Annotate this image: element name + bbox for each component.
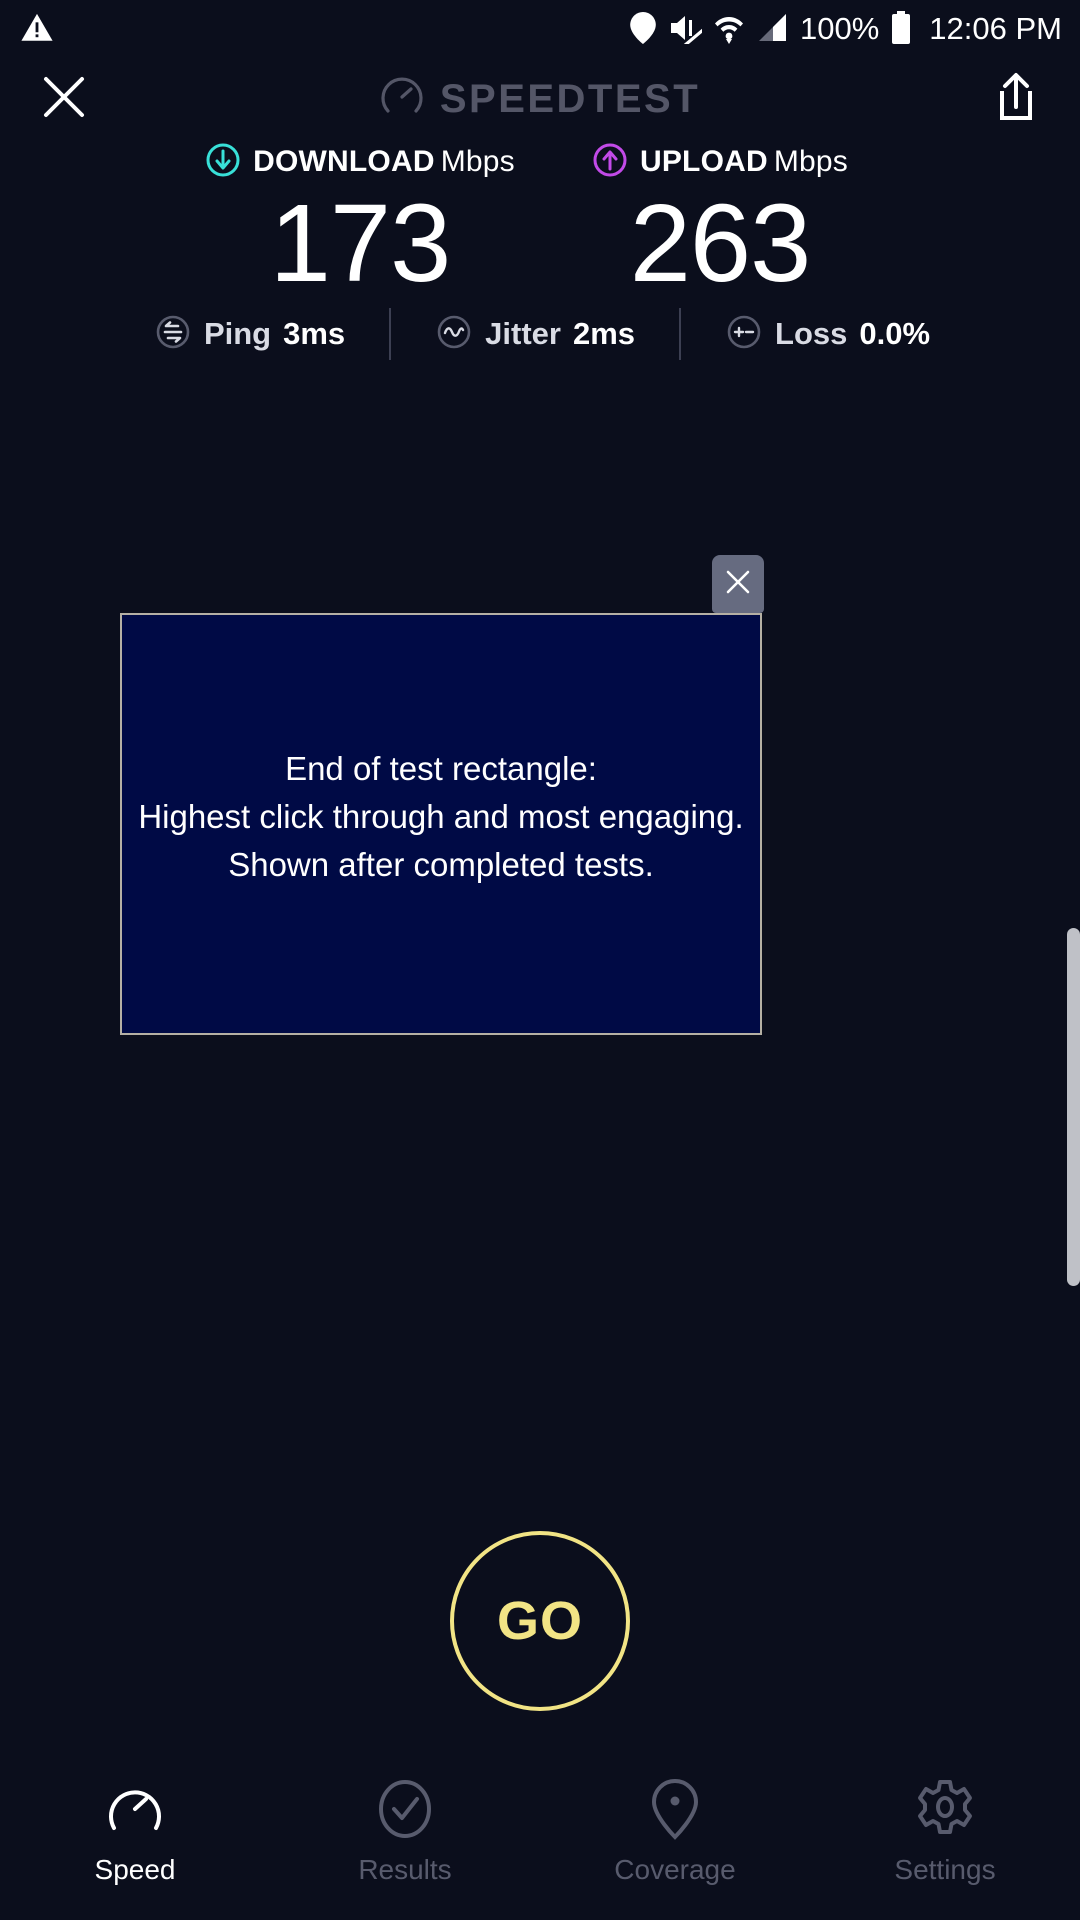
share-icon	[993, 72, 1039, 127]
download-value: 173	[270, 186, 451, 302]
upload-label: UPLOADMbps	[640, 145, 848, 179]
jitter-label: Jitter2ms	[485, 316, 635, 352]
nav-item-settings[interactable]: Settings	[810, 1778, 1080, 1886]
app-brand: SPEEDTEST	[0, 56, 1080, 142]
ping-icon	[154, 313, 192, 356]
close-icon	[723, 567, 753, 602]
metric-divider	[389, 308, 391, 360]
ad-close-button[interactable]	[712, 555, 764, 613]
nav-item-coverage[interactable]: Coverage	[540, 1778, 810, 1886]
nav-label-results: Results	[358, 1854, 451, 1886]
jitter-metric: Jitter2ms	[435, 313, 635, 356]
status-bar-left	[20, 11, 54, 45]
arrow-down-circle-icon	[205, 142, 241, 183]
arrow-up-circle-icon	[592, 142, 628, 183]
upload-result: UPLOADMbps 263	[530, 142, 910, 302]
ping-metric: Ping3ms	[154, 313, 345, 356]
cellular-signal-icon	[756, 13, 788, 43]
advertisement-container: End of test rectangle: Highest click thr…	[120, 613, 762, 1035]
location-pin-icon	[650, 1778, 700, 1840]
check-circle-icon	[375, 1778, 435, 1840]
app-title: SPEEDTEST	[440, 77, 700, 122]
speedometer-icon	[104, 1778, 166, 1840]
metric-divider	[679, 308, 681, 360]
battery-full-icon	[891, 11, 911, 45]
bottom-navigation: Speed Results Coverage	[0, 1770, 1080, 1920]
download-label: DOWNLOADMbps	[253, 145, 515, 179]
status-bar-clock: 12:06 PM	[929, 13, 1062, 44]
volume-muted-icon	[668, 12, 702, 44]
close-icon	[41, 74, 87, 125]
go-button-label: GO	[497, 1590, 583, 1652]
nav-label-settings: Settings	[894, 1854, 995, 1886]
nav-label-speed: Speed	[95, 1854, 176, 1886]
advertisement-banner[interactable]: End of test rectangle: Highest click thr…	[120, 613, 762, 1035]
status-bar-right: 100% 12:06 PM	[630, 11, 1062, 45]
speedtest-app-screen: 100% 12:06 PM	[0, 0, 1080, 1920]
speedometer-icon	[380, 75, 424, 124]
close-app-button[interactable]	[34, 69, 94, 129]
upload-value: 263	[630, 186, 811, 302]
network-metrics-row: Ping3ms Jitter2ms Loss0.	[0, 304, 1080, 364]
go-button[interactable]: GO	[450, 1531, 630, 1711]
jitter-icon	[435, 313, 473, 356]
download-result: DOWNLOADMbps 173	[170, 142, 550, 302]
loss-icon	[725, 313, 763, 356]
nav-label-coverage: Coverage	[614, 1854, 735, 1886]
nav-item-results[interactable]: Results	[270, 1778, 540, 1886]
gear-icon	[915, 1778, 975, 1840]
ad-line-3: Shown after completed tests.	[120, 841, 762, 889]
ad-line-1: End of test rectangle:	[120, 745, 762, 793]
ad-text: End of test rectangle: Highest click thr…	[120, 745, 762, 889]
results-summary: DOWNLOADMbps 173 UPLOADMbps 263	[0, 142, 1080, 302]
speed-values-row: DOWNLOADMbps 173 UPLOADMbps 263	[0, 142, 1080, 302]
warning-triangle-icon	[20, 11, 54, 45]
battery-percent-label: 100%	[800, 13, 879, 44]
location-pin-icon	[630, 12, 656, 44]
upload-header: UPLOADMbps	[592, 142, 848, 182]
app-header: SPEEDTEST	[0, 56, 1080, 142]
status-bar: 100% 12:06 PM	[0, 0, 1080, 56]
download-header: DOWNLOADMbps	[205, 142, 515, 182]
wifi-icon	[714, 11, 744, 45]
loss-label: Loss0.0%	[775, 316, 930, 352]
loss-metric: Loss0.0%	[725, 313, 930, 356]
nav-item-speed[interactable]: Speed	[0, 1778, 270, 1886]
ping-label: Ping3ms	[204, 316, 345, 352]
scrollbar-thumb[interactable]	[1067, 928, 1080, 1286]
ad-line-2: Highest click through and most engaging.	[120, 793, 762, 841]
share-button[interactable]	[986, 68, 1046, 130]
